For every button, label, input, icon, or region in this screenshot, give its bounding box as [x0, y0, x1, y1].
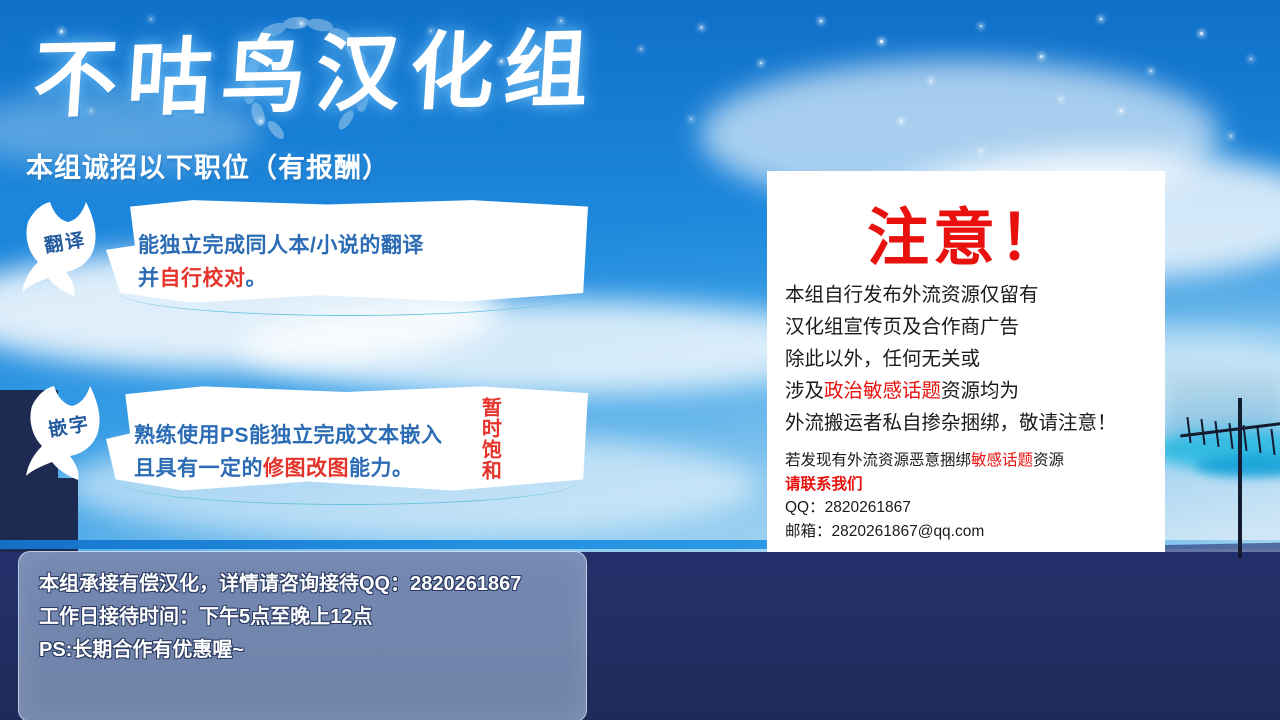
tv-antenna-icon: [1196, 398, 1280, 558]
notice-contact-block: 若发现有外流资源恶意捆绑敏感话题资源请联系我们QQ：2820261867邮箱：2…: [785, 449, 1165, 543]
highlight-text: 敏感话题: [971, 452, 1033, 469]
position-banner: 熟练使用PS能独立完成文本嵌入 且具有一定的修图改图能力。 暂时饱和: [106, 383, 588, 495]
notice-line: 若发现有外流资源恶意捆绑敏感话题资源: [785, 449, 1165, 473]
service-info-line: 工作日接待时间：下午5点至晚上12点: [39, 601, 579, 634]
notice-line: 邮箱：2820261867@qq.com: [785, 520, 1165, 544]
service-info-line: PS:长期合作有优惠喔~: [39, 634, 579, 667]
dove-icon: 翻译: [20, 196, 116, 308]
service-info-line: 本组承接有偿汉化，详情请咨询接待QQ：2820261867: [39, 568, 579, 601]
notice-line: 请联系我们: [785, 473, 1165, 497]
service-info-box: 本组承接有偿汉化，详情请咨询接待QQ：2820261867 工作日接待时间：下午…: [18, 551, 587, 720]
highlight-text: 政治敏感话题: [824, 380, 941, 402]
position-banner: 能独立完成同人本/小说的翻译 并自行校对。: [106, 198, 588, 306]
position-requirement-line: 能独立完成同人本/小说的翻译: [138, 230, 424, 263]
notice-line: 汉化组宣传页及合作商广告: [785, 311, 1155, 343]
position-requirement-line: 熟练使用PS能独立完成文本嵌入: [134, 420, 443, 453]
position-requirement-line: 并自行校对。: [138, 263, 424, 296]
notice-title: 注意！: [767, 187, 1165, 277]
poster-canvas: 不咕鸟汉化组 本组诚招以下职位（有报酬） 能独立完成同人本/小说的翻译 并自行校…: [0, 0, 1280, 720]
service-info-text: 本组承接有偿汉化，详情请咨询接待QQ：2820261867 工作日接待时间：下午…: [39, 568, 579, 667]
notice-body: 本组自行发布外流资源仅留有汉化组宣传页及合作商广告除此以外，任何无关或涉及政治敏…: [785, 279, 1155, 439]
page-title: 不咕鸟汉化组: [29, 6, 758, 139]
notice-line: 本组自行发布外流资源仅留有: [785, 279, 1155, 311]
dove-icon: 嵌字: [24, 380, 120, 492]
page-subtitle: 本组诚招以下职位（有报酬）: [26, 146, 390, 185]
position-requirement-line: 且具有一定的修图改图能力。: [134, 453, 443, 486]
notice-panel: 注意！ 本组自行发布外流资源仅留有汉化组宣传页及合作商广告除此以外，任何无关或涉…: [767, 171, 1165, 552]
highlight-text: 自行校对: [160, 267, 246, 290]
notice-line: 除此以外，任何无关或: [785, 343, 1155, 375]
position-status-note: 暂时饱和: [478, 397, 500, 481]
notice-line: QQ：2820261867: [785, 496, 1165, 520]
highlight-text: 修图改图: [263, 457, 349, 480]
notice-line: 外流搬运者私自掺杂捆绑，敬请注意！: [785, 407, 1155, 439]
notice-line: 涉及政治敏感话题资源均为: [785, 375, 1155, 407]
